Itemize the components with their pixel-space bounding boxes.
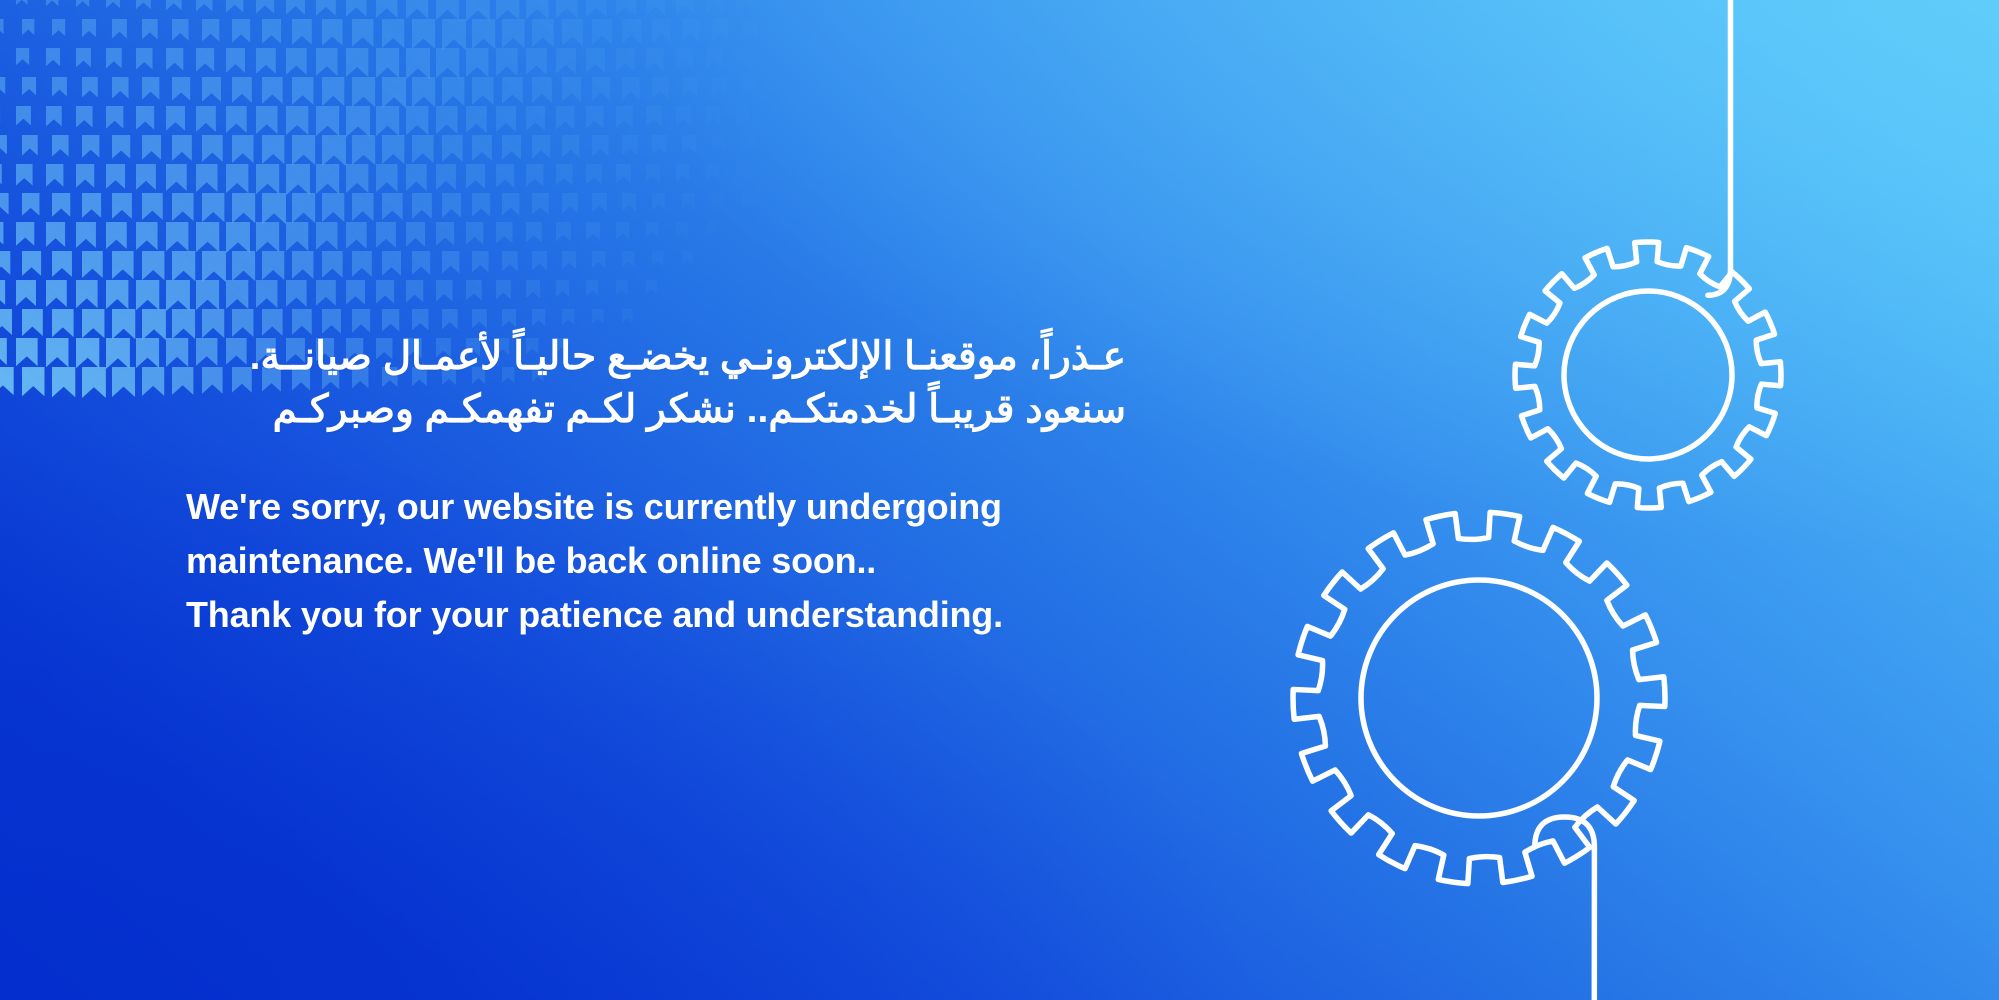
- english-message: We're sorry, our website is currently un…: [186, 480, 1206, 642]
- large-gear-icon: [1293, 512, 1665, 883]
- arabic-message: عـذراً، موقعنـا الإلكترونـي يخضـع حاليـا…: [186, 330, 1126, 436]
- arabic-line-1: عـذراً، موقعنـا الإلكترونـي يخضـع حاليـا…: [186, 330, 1126, 383]
- english-line-2: maintenance. We'll be back online soon..: [186, 534, 1206, 588]
- english-line-3: Thank you for your patience and understa…: [186, 588, 1206, 642]
- maintenance-page: عـذراً، موقعنـا الإلكترونـي يخضـع حاليـا…: [0, 0, 1999, 1000]
- gear-illustration: [1219, 0, 1999, 1000]
- connector-line-bottom: [1535, 817, 1595, 1000]
- maintenance-message: عـذراً، موقعنـا الإلكترونـي يخضـع حاليـا…: [186, 330, 1206, 642]
- arabic-line-2: سنعود قريبـاً لخدمتكـم.. نشكر لكـم تفهمك…: [186, 383, 1126, 436]
- english-line-1: We're sorry, our website is currently un…: [186, 480, 1206, 534]
- large-gear-hub-circle: [1361, 580, 1597, 816]
- small-gear-icon: [1515, 242, 1781, 508]
- small-gear-hub-circle: [1564, 291, 1732, 459]
- connector-line-top: [1708, 0, 1731, 295]
